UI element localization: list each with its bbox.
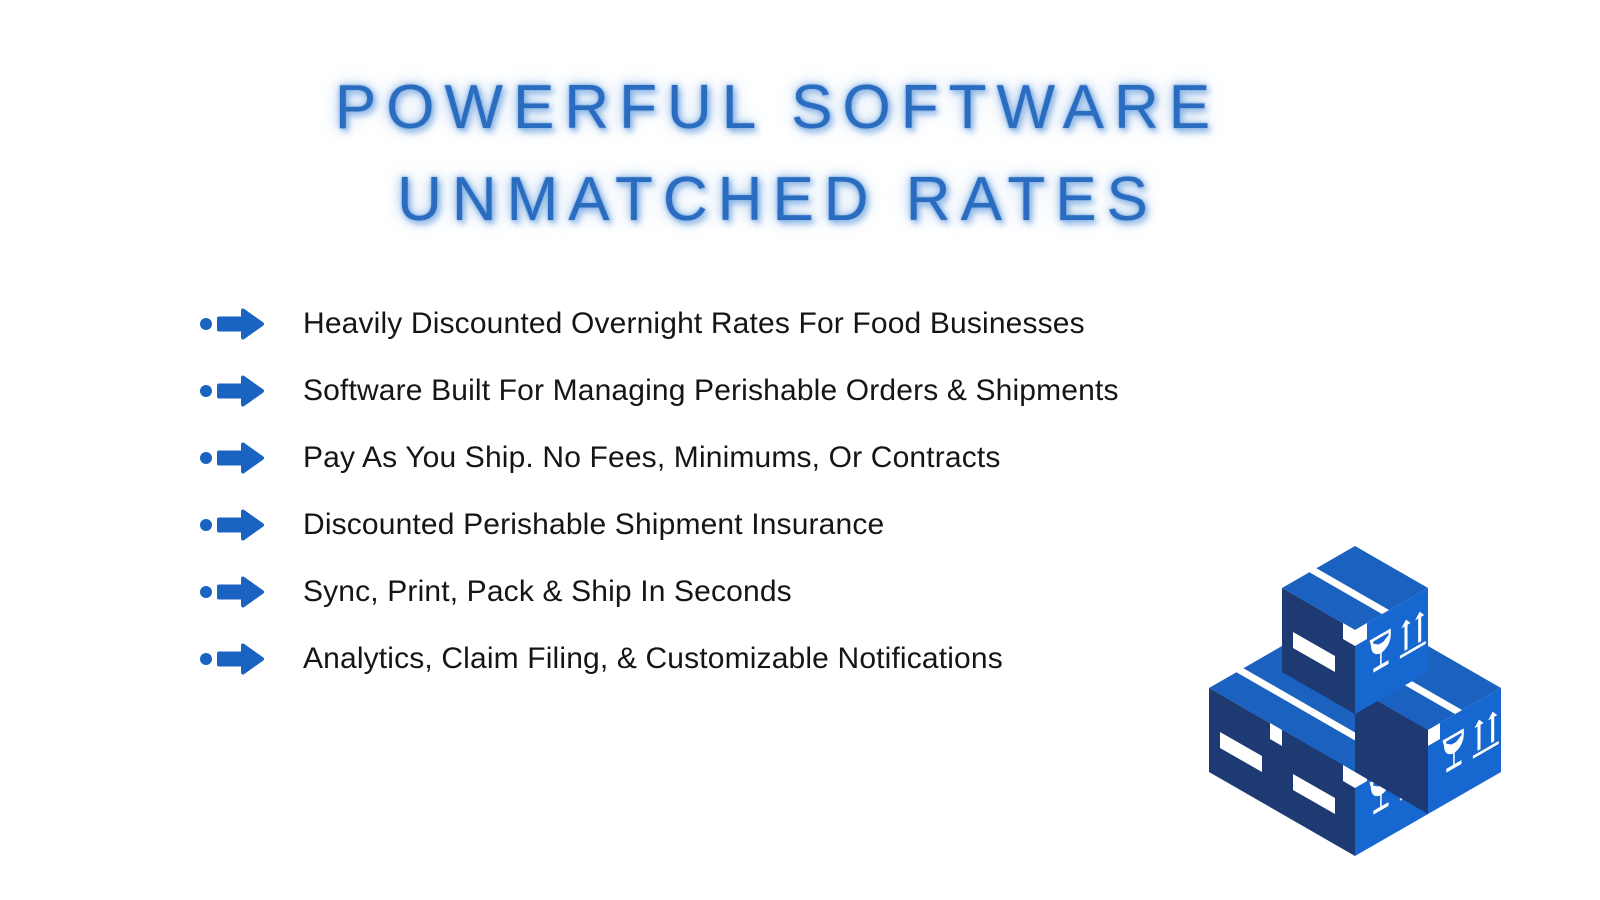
list-item: Analytics, Claim Filing, & Customizable … (198, 633, 1318, 685)
list-item: Pay As You Ship. No Fees, Minimums, Or C… (198, 432, 1318, 484)
list-item-label: Software Built For Managing Perishable O… (303, 374, 1119, 408)
dot-arrow-icon (198, 307, 268, 341)
dot-arrow-icon (198, 575, 268, 609)
slide-canvas: POWERFUL SOFTWARE UNMATCHED RATES Heavil… (0, 0, 1600, 900)
list-item-label: Discounted Perishable Shipment Insurance (303, 508, 884, 542)
title-line-1: POWERFUL SOFTWARE (0, 62, 1555, 154)
list-item: Software Built For Managing Perishable O… (198, 365, 1318, 417)
feature-list: Heavily Discounted Overnight Rates For F… (198, 298, 1318, 700)
title-line-2: UNMATCHED RATES (0, 154, 1555, 246)
list-item-label: Heavily Discounted Overnight Rates For F… (303, 307, 1085, 341)
list-item-label: Analytics, Claim Filing, & Customizable … (303, 642, 1003, 676)
page-title: POWERFUL SOFTWARE UNMATCHED RATES (0, 62, 1555, 246)
dot-arrow-icon (198, 642, 268, 676)
list-item-label: Sync, Print, Pack & Ship In Seconds (303, 575, 792, 609)
dot-arrow-icon (198, 441, 268, 475)
list-item: Heavily Discounted Overnight Rates For F… (198, 298, 1318, 350)
stacked-shipping-boxes-illustration (1196, 542, 1536, 872)
list-item: Sync, Print, Pack & Ship In Seconds (198, 566, 1318, 618)
list-item: Discounted Perishable Shipment Insurance (198, 499, 1318, 551)
list-item-label: Pay As You Ship. No Fees, Minimums, Or C… (303, 441, 1000, 475)
dot-arrow-icon (198, 374, 268, 408)
dot-arrow-icon (198, 508, 268, 542)
